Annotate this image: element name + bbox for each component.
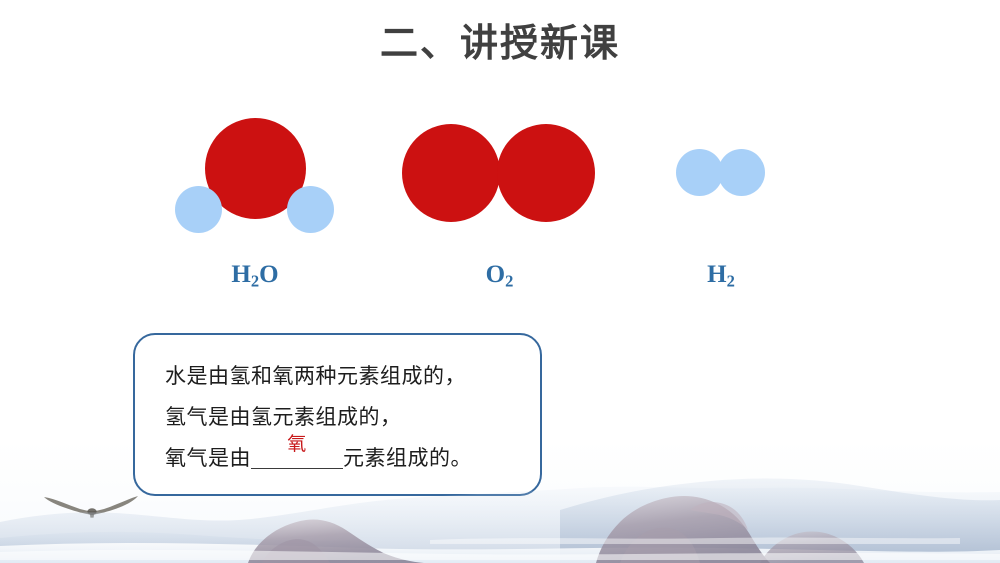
- formula-label-oxygen-gas: O2: [402, 261, 597, 291]
- molecule-diagram-oxygen-gas: [402, 124, 597, 224]
- eagle-silhouette-icon: [42, 492, 140, 522]
- statement-box: 水是由氢和氧两种元素组成的， 氢气是由氢元素组成的， 氧气是由氧元素组成的。: [133, 333, 542, 496]
- formula-hydrogen-main1: H: [707, 261, 726, 288]
- molecule-diagram-hydrogen-gas: [676, 149, 766, 197]
- statement-line-1: 水是由氢和氧两种元素组成的，: [165, 356, 540, 397]
- formula-hydrogen-sub1: 2: [727, 271, 735, 290]
- formula-label-hydrogen-gas: H2: [676, 261, 766, 291]
- formula-oxygen-sub1: 2: [505, 271, 513, 290]
- formula-water-main1: H: [231, 261, 250, 288]
- formula-water-main2: O: [259, 261, 278, 288]
- statement-line-3-prefix: 氧气是由: [165, 446, 251, 470]
- atom-hydrogen-gas-right: [718, 149, 765, 196]
- atom-oxygen-right: [497, 124, 595, 222]
- statement-line-2: 氢气是由氢元素组成的，: [165, 397, 540, 438]
- statement-line-3-suffix: 元素组成的。: [343, 446, 472, 470]
- formula-water-sub1: 2: [251, 271, 259, 290]
- formula-label-water: H2O: [170, 261, 340, 291]
- slide-canvas: 二、讲授新课 H2O O2 H2 水是由氢和氧两种元素组成的， 氢气是由氢元素组…: [0, 0, 1000, 563]
- atom-hydrogen-gas-left: [676, 149, 723, 196]
- page-title: 二、讲授新课: [0, 12, 1000, 67]
- formula-oxygen-main1: O: [486, 261, 505, 288]
- blank-answer-text: 氧: [287, 424, 307, 465]
- molecule-diagram-water: [170, 118, 340, 228]
- fill-in-blank[interactable]: 氧: [251, 438, 343, 479]
- atom-oxygen-left: [402, 124, 500, 222]
- statement-line-3: 氧气是由氧元素组成的。: [165, 438, 540, 479]
- atom-hydrogen-left: [175, 186, 222, 233]
- atom-hydrogen-right: [287, 186, 334, 233]
